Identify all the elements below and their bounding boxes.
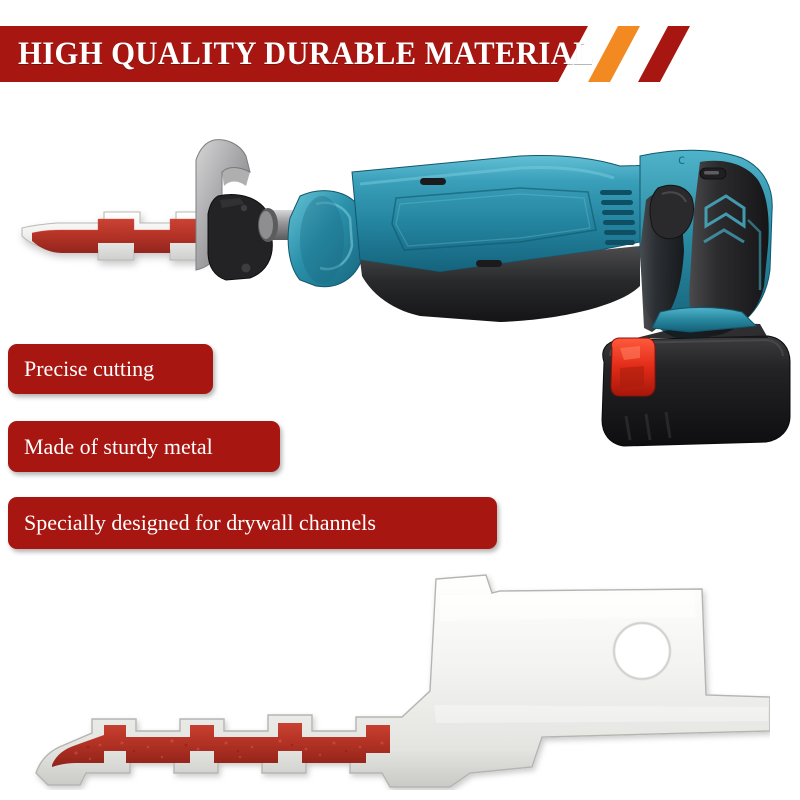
front-collar xyxy=(288,191,364,287)
cordless-reciprocating-saw: c xyxy=(0,100,800,460)
handle-marking: c xyxy=(678,153,685,168)
banner-stripe-orange xyxy=(588,26,640,82)
feature-pill-drywall-channels: Specially designed for drywall channels xyxy=(8,497,497,549)
feature-pill-label: Specially designed for drywall channels xyxy=(24,510,376,536)
battery-release-latch xyxy=(611,338,655,396)
product-marketing-image: HIGH QUALITY DURABLE MATERIAL xyxy=(0,0,800,800)
feature-pill-label: Precise cutting xyxy=(24,356,154,382)
banner-title: HIGH QUALITY DURABLE MATERIAL xyxy=(18,26,594,82)
feature-pill-label: Made of sturdy metal xyxy=(24,434,213,460)
drywall-channel-saw-blade xyxy=(30,555,770,790)
feature-pill-sturdy-metal: Made of sturdy metal xyxy=(8,421,280,472)
lock-button xyxy=(700,168,726,179)
header-banner: HIGH QUALITY DURABLE MATERIAL xyxy=(0,26,800,84)
feature-pill-precise-cutting: Precise cutting xyxy=(8,344,213,394)
banner-stripe-red xyxy=(638,26,690,82)
